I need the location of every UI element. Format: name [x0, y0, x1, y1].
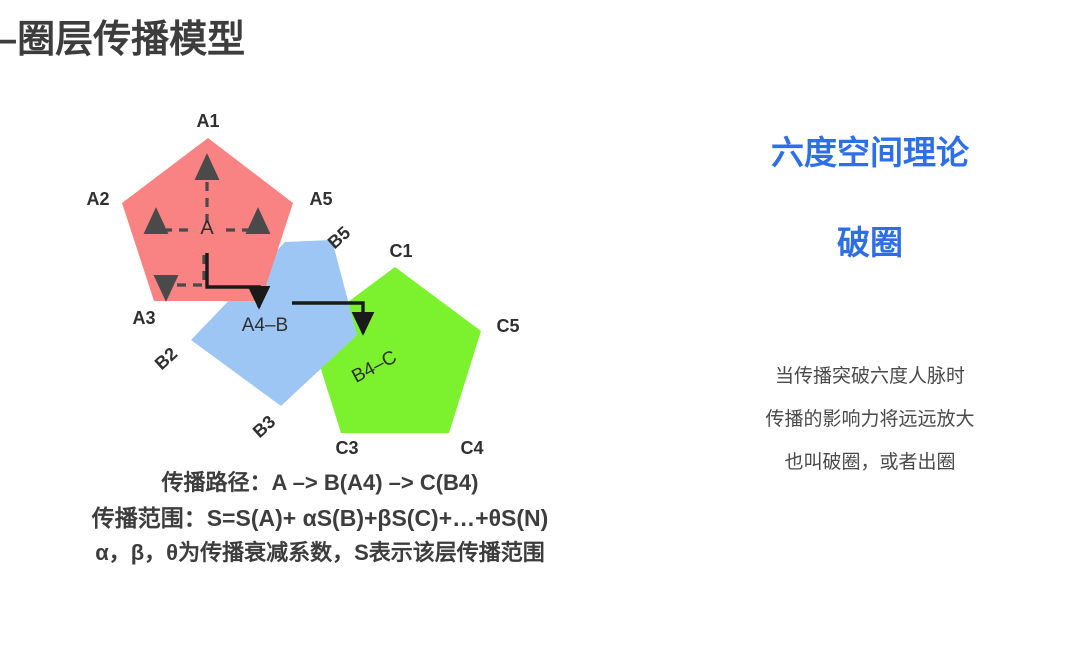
caption-note: α，β，θ为传播衰减系数，S表示该层传播范围 — [0, 536, 640, 570]
body-line-3: 也叫破圈，或者出圈 — [660, 441, 1080, 484]
heading-break-circle: 破圈 — [660, 220, 1080, 266]
page-title: –圈层传播模型 — [0, 8, 245, 63]
heading-six-degrees: 六度空间理论 — [660, 130, 1080, 176]
label-b2: B2 — [151, 343, 181, 373]
label-a1: A1 — [196, 111, 219, 131]
label-center-a: A — [200, 217, 214, 239]
label-a5: A5 — [309, 189, 332, 209]
label-b3: B3 — [249, 411, 279, 441]
caption-block: 传播路径：A –> B(A4) –> C(B4) 传播范围：S=S(A)+ αS… — [0, 466, 640, 570]
right-panel-body: 当传播突破六度人脉时 传播的影响力将远远放大 也叫破圈，或者出圈 — [660, 355, 1080, 484]
label-c1: C1 — [389, 241, 412, 261]
body-line-1: 当传播突破六度人脉时 — [660, 355, 1080, 398]
slide-canvas: –圈层传播模型 — [0, 0, 1080, 648]
propagation-diagram: A A1 A2 A5 A3 B5 B2 B3 C1 C5 C3 C4 A4–B … — [0, 95, 640, 475]
label-c5: C5 — [496, 316, 519, 336]
label-a4-b: A4–B — [242, 315, 288, 336]
label-a2: A2 — [86, 189, 109, 209]
caption-path: 传播路径：A –> B(A4) –> C(B4) — [0, 466, 640, 500]
caption-scope: 传播范围：S=S(A)+ αS(B)+βS(C)+…+θS(N) — [0, 500, 640, 536]
label-a3: A3 — [132, 308, 155, 328]
label-c4: C4 — [460, 438, 483, 458]
body-line-2: 传播的影响力将远远放大 — [660, 398, 1080, 441]
right-panel-headings: 六度空间理论 破圈 — [660, 130, 1080, 266]
label-c3: C3 — [335, 438, 358, 458]
